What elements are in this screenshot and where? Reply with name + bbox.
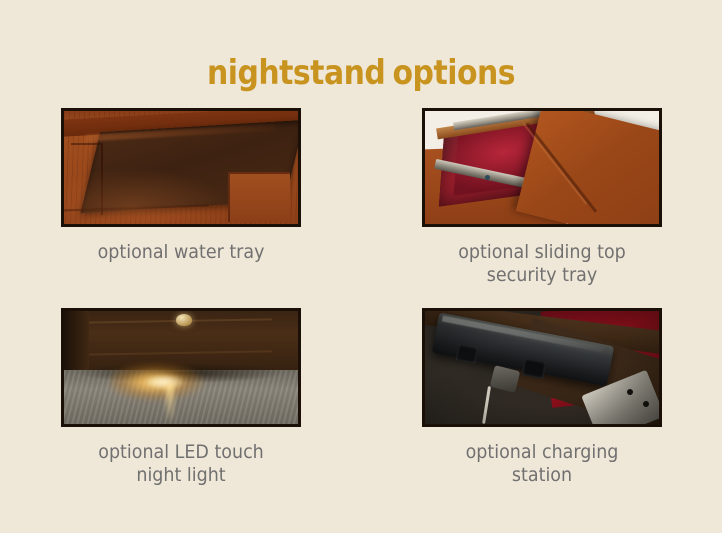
page-root: nightstand options [0,0,722,533]
option-card-sliding-top-security-tray: optional sliding top security tray [361,108,722,308]
caption-charging-station: optional charging station [417,441,665,487]
caption-water-tray: optional water tray [56,241,304,264]
photo-led-touch-night-light [61,308,301,427]
options-row-bottom: optional LED touch night light [0,308,722,508]
caption-sliding-top-security-tray: optional sliding top security tray [417,241,665,287]
option-card-water-tray: optional water tray [0,108,361,308]
option-card-led-touch-night-light: optional LED touch night light [0,308,361,508]
photo-charging-station [422,308,662,427]
options-row-top: optional water tray [0,108,722,308]
photo-charging-canvas [425,311,659,424]
photo-sliding-top-canvas [425,111,659,224]
photo-sliding-top-security-tray [422,108,662,227]
options-grid: optional water tray [0,108,722,508]
photo-led-canvas [64,311,298,424]
photo-water-tray [61,108,301,227]
page-title: nightstand options [43,53,678,93]
photo-water-tray-canvas [64,111,298,224]
caption-led-touch-night-light: optional LED touch night light [56,441,304,487]
option-card-charging-station: optional charging station [361,308,722,508]
